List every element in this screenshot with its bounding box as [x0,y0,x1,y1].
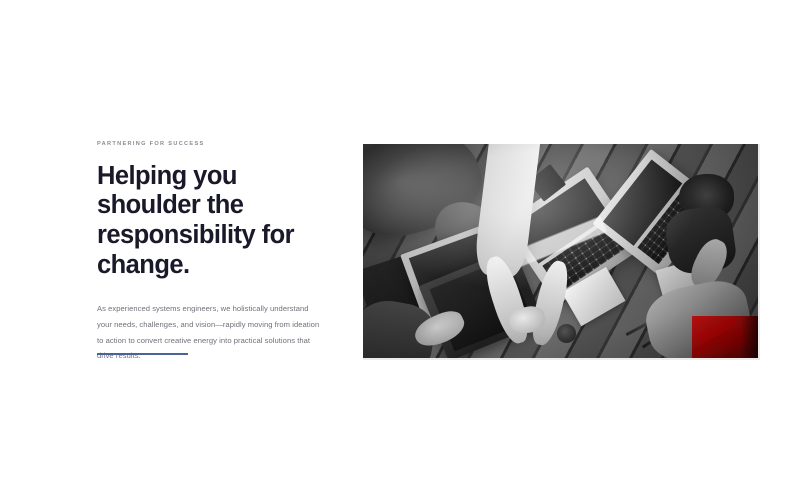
accent-divider [97,353,188,355]
page-title: Helping you shoulder the responsibility … [97,162,297,281]
section-eyebrow: PARTNERING FOR SUCCESS [97,142,333,148]
hero-media-panel [363,144,760,360]
red-overlay-dark-edge [741,316,758,358]
hero-section: PARTNERING FOR SUCCESS Helping you shoul… [0,0,800,480]
red-accent-overlay [692,316,758,358]
hero-text-column: PARTNERING FOR SUCCESS Helping you shoul… [97,142,333,364]
